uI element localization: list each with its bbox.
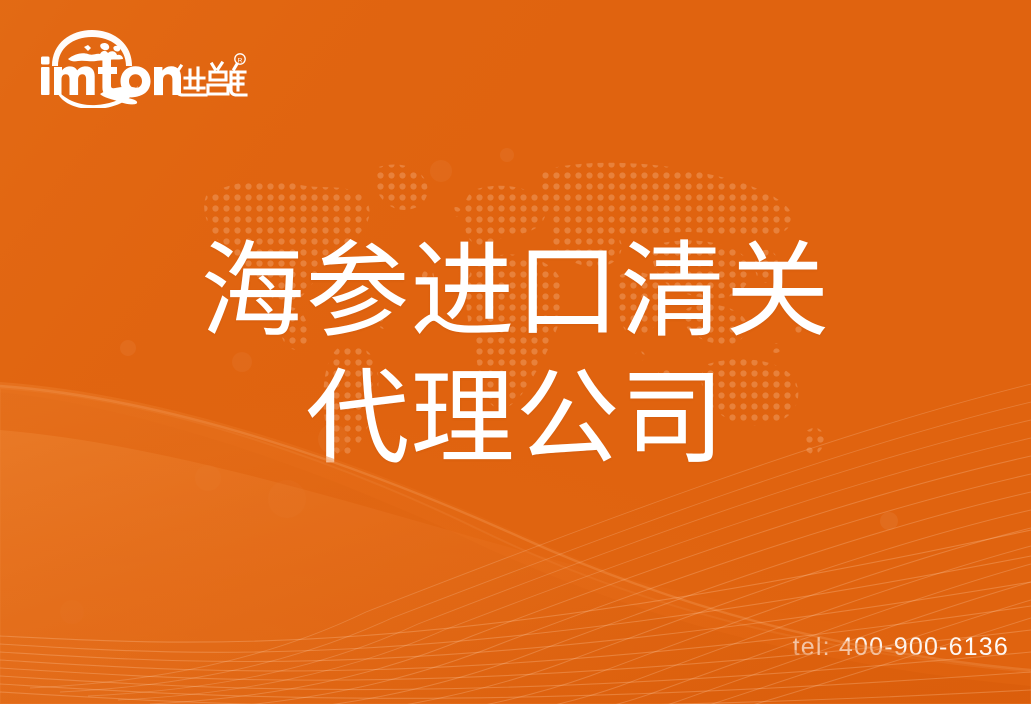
poster-canvas: R 海参进口清关 代理公司 tel: 400-900-6136 xyxy=(0,0,1031,704)
fan-line-striations xyxy=(0,0,1031,704)
